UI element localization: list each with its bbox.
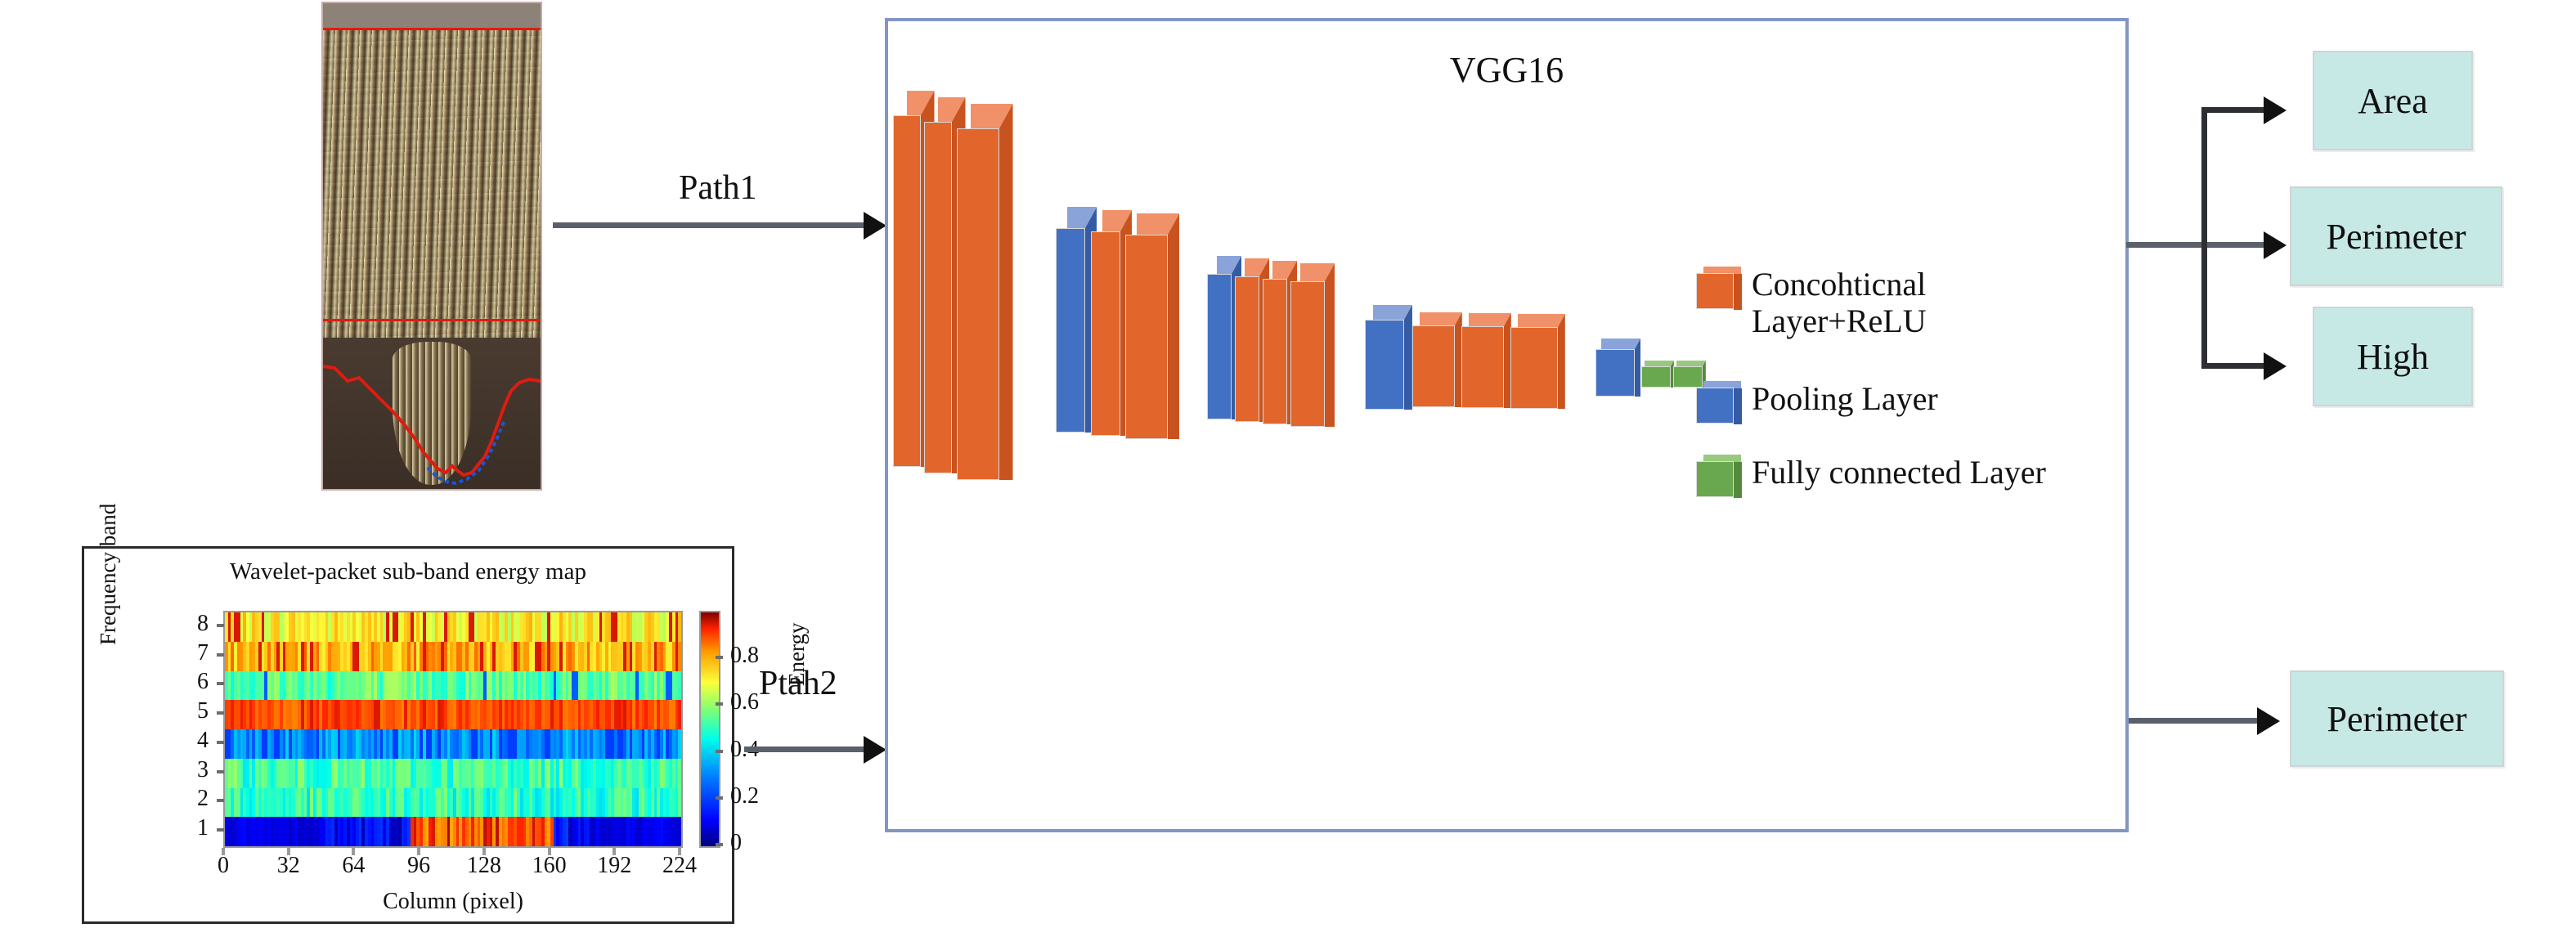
pooling-layer-cube — [1696, 381, 1742, 424]
slab-front-face — [1412, 325, 1455, 407]
colorbar-tick-label: 0.2 — [730, 785, 759, 808]
y-tick-mark — [217, 741, 224, 744]
x-tick-label: 64 — [327, 854, 379, 877]
slab-front-face — [957, 128, 999, 480]
heatmap-cell — [678, 729, 681, 759]
annotation-contour-blue — [323, 365, 541, 487]
x-tick-label: 96 — [393, 854, 445, 877]
y-tick-label: 2 — [176, 787, 209, 810]
colorbar-tick-mark — [716, 702, 723, 706]
pooling-layer-slab — [1365, 320, 1404, 410]
path1-label: Path1 — [679, 168, 757, 208]
conv-layer-slab — [1290, 281, 1325, 427]
heatmap-plot-area — [223, 611, 683, 848]
conv-layer-slab — [1510, 327, 1558, 409]
arrowhead-perimeter-bottom — [2257, 707, 2280, 735]
legend-label: Concohticnal Layer+ReLU — [1752, 267, 2089, 340]
colorbar-tick-mark — [716, 656, 723, 659]
pooling-layer-slab — [1595, 349, 1635, 397]
y-tick-mark — [217, 828, 224, 832]
legend-label: Pooling Layer — [1752, 381, 1938, 418]
path1-arrowhead — [864, 212, 886, 240]
y-tick-label: 4 — [176, 729, 209, 752]
output-box-perimeter[interactable]: Perimeter — [2290, 186, 2502, 286]
x-tick-label: 160 — [523, 854, 576, 877]
annotation-line-top — [323, 28, 541, 30]
slab-front-face — [1461, 326, 1504, 408]
heatmap-band-row — [225, 671, 681, 701]
colorbar-tick-mark — [716, 843, 723, 846]
y-tick-label: 3 — [176, 759, 209, 782]
sample-micrograph-image — [321, 2, 542, 491]
y-tick-label: 7 — [176, 642, 209, 665]
x-tick-label: 32 — [263, 854, 315, 877]
x-tick-mark — [548, 848, 551, 855]
slab-front-face — [1125, 235, 1168, 439]
heatmap-band-row — [225, 817, 681, 846]
conv-layer-slab — [1125, 235, 1168, 439]
pooling-layer-slab — [1056, 228, 1085, 433]
colorbar-tick-label: 0.6 — [730, 691, 759, 714]
vgg16-model-box: VGG16 Concohticnal Layer+ReLUPooling Lay… — [885, 18, 2129, 832]
heatmap-cell — [678, 817, 681, 846]
x-tick-mark — [352, 848, 355, 855]
x-tick-mark — [287, 848, 290, 855]
vgg16-title: VGG16 — [888, 49, 2125, 91]
slab-front-face — [1091, 231, 1120, 436]
colorbar-tick-mark — [716, 750, 723, 753]
slab-top-face — [1420, 312, 1462, 325]
x-tick-label: 192 — [588, 854, 640, 877]
heatmap-cell — [678, 700, 681, 729]
legend-item: Pooling Layer — [1696, 381, 2089, 424]
conv-layer-slab — [1091, 231, 1120, 436]
colorbar-tick-label: 0 — [730, 832, 742, 854]
output-branch-riser — [2201, 107, 2207, 369]
y-tick-label: 5 — [176, 700, 209, 723]
slab-side-face — [1558, 314, 1565, 409]
legend-item: Fully connected Layer — [1696, 455, 2089, 497]
y-tick-label: 6 — [176, 670, 209, 693]
slab-top-face — [1518, 314, 1565, 327]
path2-label: Ptah2 — [759, 664, 837, 703]
heatmap-cell — [678, 612, 681, 642]
slab-front-face — [1641, 366, 1671, 388]
slab-side-face — [1325, 263, 1335, 427]
slab-front-face — [1365, 320, 1404, 410]
output-box-perimeter-bottom[interactable]: Perimeter — [2290, 670, 2504, 767]
path1-arrow-line — [553, 222, 876, 228]
heatmap-band-row — [225, 700, 681, 729]
heatmap-band-row — [225, 729, 681, 759]
heatmap-cell — [678, 642, 681, 671]
conv-layer-slab — [893, 115, 921, 467]
x-tick-label: 0 — [197, 854, 249, 877]
y-tick-mark — [217, 799, 224, 802]
x-tick-mark — [613, 848, 616, 855]
heatmap-band-row — [225, 642, 681, 671]
slab-front-face — [1263, 279, 1287, 424]
heatmap-cell — [678, 788, 681, 818]
conv-layer-slab — [1235, 276, 1259, 422]
pooling-layer-slab — [1207, 274, 1232, 419]
output-box-high[interactable]: High — [2313, 307, 2473, 406]
y-tick-mark — [217, 770, 224, 773]
heatmap-band-row — [225, 612, 681, 642]
slab-top-face — [1601, 338, 1640, 349]
slab-top-face — [1676, 361, 1706, 366]
path2-arrow-line — [744, 746, 876, 752]
slab-front-face — [1056, 228, 1085, 433]
annotation-line-middle — [323, 319, 541, 321]
legend-label: Fully connected Layer — [1752, 455, 2046, 491]
wavelet-energy-chart-panel: Wavelet-packet sub-band energy map Frequ… — [82, 546, 734, 924]
chart-x-axis-label: Column (pixel) — [223, 889, 683, 915]
colorbar — [699, 611, 720, 848]
y-tick-mark — [217, 682, 224, 685]
fc-layer-slab — [1641, 366, 1671, 388]
x-tick-label: 128 — [458, 854, 510, 877]
slab-front-face — [1235, 276, 1259, 422]
conv-layer-slab — [924, 122, 952, 473]
y-tick-mark — [217, 653, 224, 657]
arrowhead-perimeter-top — [2264, 231, 2287, 259]
conv-layer-slab — [957, 128, 999, 480]
x-tick-mark — [482, 848, 486, 855]
conv-layer-cube — [1696, 267, 1742, 309]
slab-front-face — [924, 122, 952, 473]
conv-layer-slab — [1461, 326, 1504, 408]
x-tick-mark — [222, 848, 225, 855]
y-tick-mark — [217, 711, 224, 715]
x-tick-label: 224 — [653, 854, 706, 877]
slab-front-face — [893, 115, 921, 467]
slab-side-face — [1168, 213, 1179, 439]
heatmap-band-row — [225, 788, 681, 818]
conv-layer-slab — [1263, 279, 1287, 424]
slab-front-face — [1595, 349, 1635, 397]
slab-front-face — [1207, 274, 1232, 419]
colorbar-tick-label: 0.8 — [730, 644, 759, 667]
y-tick-label: 8 — [176, 612, 209, 635]
colorbar-tick-mark — [716, 796, 723, 800]
micrograph-top-band — [323, 3, 541, 28]
conv-layer-slab — [1412, 325, 1455, 407]
slab-front-face — [1290, 281, 1325, 427]
x-tick-mark — [678, 848, 681, 855]
arrowhead-area — [2264, 96, 2287, 124]
chart-title: Wavelet-packet sub-band energy map — [84, 558, 732, 585]
y-tick-label: 1 — [176, 817, 209, 840]
slab-side-face — [1404, 305, 1412, 410]
legend-item: Concohticnal Layer+ReLU — [1696, 267, 2089, 340]
slab-top-face — [1645, 361, 1674, 366]
y-tick-mark — [217, 624, 224, 627]
fully-connected-layer-cube — [1696, 455, 1742, 497]
path2-arrowhead — [864, 736, 886, 764]
chart-y-axis-label: Frequency band — [96, 504, 121, 645]
heatmap-band-row — [225, 759, 681, 788]
output-box-area[interactable]: Area — [2313, 51, 2473, 150]
slab-side-face — [999, 104, 1013, 480]
slab-front-face — [1510, 327, 1558, 409]
slab-top-face — [1469, 313, 1511, 326]
heatmap-cell — [678, 671, 681, 701]
heatmap-cell — [678, 759, 681, 788]
x-tick-mark — [417, 848, 420, 855]
output-trunk-line — [2126, 242, 2273, 248]
arrowhead-high — [2264, 352, 2287, 380]
output-bottom-line — [2129, 718, 2268, 724]
